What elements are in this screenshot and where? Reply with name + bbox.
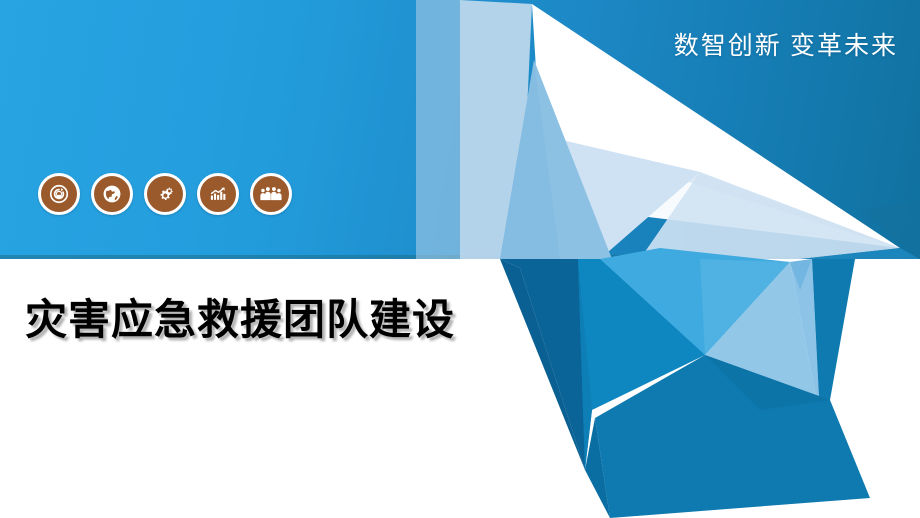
page-title: 灾害应急救援团队建设	[25, 296, 455, 343]
poly-pale-far-left	[416, 0, 460, 259]
icon-badge-lifebuoy-rescue[interactable]	[38, 173, 80, 215]
icon-row	[38, 173, 292, 215]
bar-chart-growth-icon	[207, 183, 229, 205]
low-poly-decoration	[0, 0, 920, 518]
globe-icon	[101, 183, 123, 205]
icon-badge-gears[interactable]	[144, 173, 186, 215]
team-people-icon	[259, 183, 283, 205]
icon-badge-bar-chart-growth[interactable]	[197, 173, 239, 215]
presentation-slide: 数智创新 变革未来	[0, 0, 920, 518]
icon-badge-team-people[interactable]	[250, 173, 292, 215]
icon-badge-globe[interactable]	[91, 173, 133, 215]
gears-icon	[154, 183, 177, 206]
lifebuoy-rescue-icon	[48, 183, 70, 205]
tagline: 数智创新 变革未来	[674, 26, 898, 62]
